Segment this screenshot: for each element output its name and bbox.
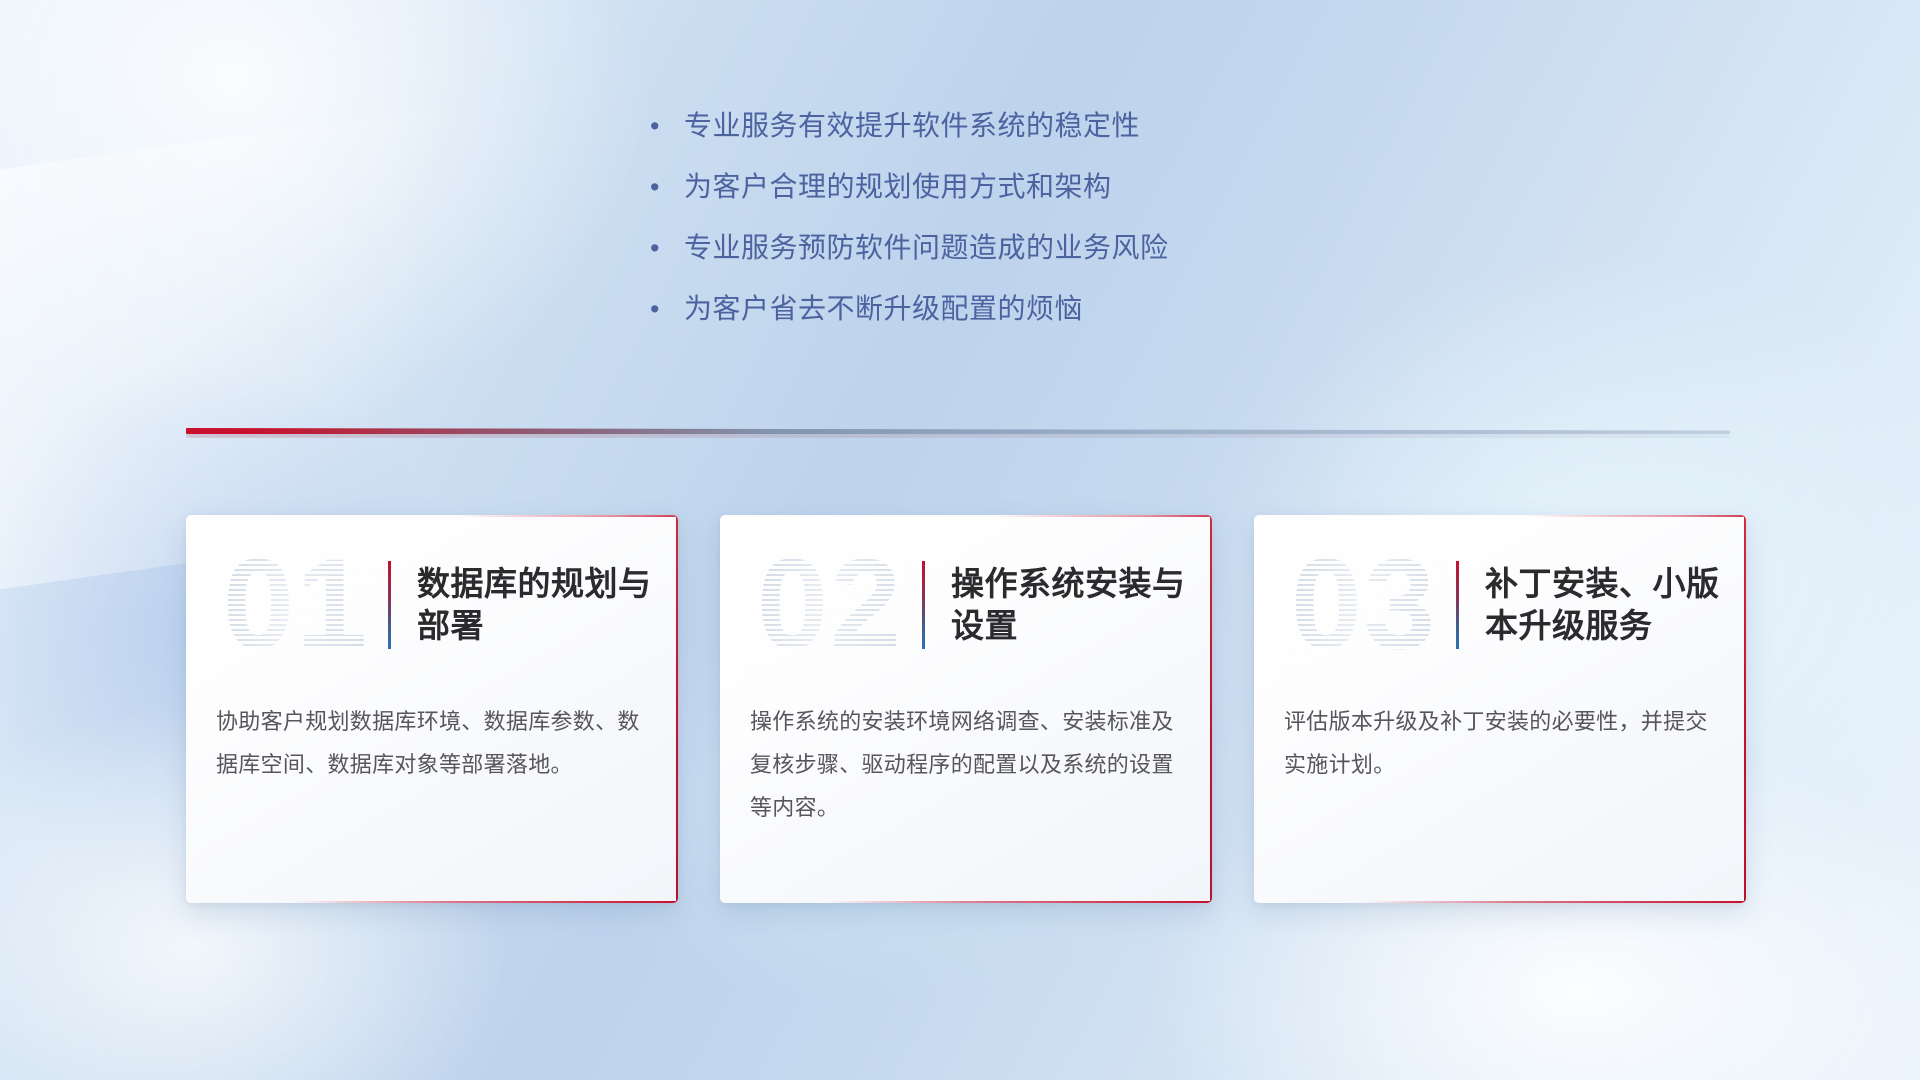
list-item: • 专业服务有效提升软件系统的稳定性 bbox=[650, 108, 1410, 143]
section-divider bbox=[186, 428, 1730, 440]
bullet-text: 专业服务预防软件问题造成的业务风险 bbox=[684, 230, 1169, 265]
card-title-divider bbox=[922, 561, 925, 649]
card-title: 数据库的规划与部署 bbox=[417, 563, 652, 647]
card-bottom-accent bbox=[294, 901, 678, 903]
card-title-divider bbox=[388, 561, 391, 649]
card-title: 补丁安装、小版本升级服务 bbox=[1485, 563, 1720, 647]
list-item: • 为客户合理的规划使用方式和架构 bbox=[650, 169, 1410, 204]
bullet-text: 为客户省去不断升级配置的烦恼 bbox=[684, 291, 1083, 326]
service-card[interactable]: 02 操作系统安装与设置 操作系统的安装环境网络调查、安装标准及复核步骤、驱动程… bbox=[720, 515, 1212, 903]
card-body-text: 评估版本升级及补丁安装的必要性，并提交实施计划。 bbox=[1254, 695, 1746, 787]
card-header: 02 操作系统安装与设置 bbox=[720, 515, 1212, 695]
benefit-bullet-list: • 专业服务有效提升软件系统的稳定性 • 为客户合理的规划使用方式和架构 • 专… bbox=[650, 108, 1410, 352]
divider-bar bbox=[186, 428, 1730, 434]
slide-canvas: • 专业服务有效提升软件系统的稳定性 • 为客户合理的规划使用方式和架构 • 专… bbox=[0, 0, 1920, 1080]
bullet-text: 专业服务有效提升软件系统的稳定性 bbox=[684, 108, 1140, 143]
bullet-dot-icon: • bbox=[650, 235, 684, 262]
card-body-text: 协助客户规划数据库环境、数据库参数、数据库空间、数据库对象等部署落地。 bbox=[186, 695, 678, 787]
card-title-divider bbox=[1456, 561, 1459, 649]
service-card[interactable]: 01 数据库的规划与部署 协助客户规划数据库环境、数据库参数、数据库空间、数据库… bbox=[186, 515, 678, 903]
background-light-streak bbox=[0, 71, 700, 589]
card-header: 03 补丁安装、小版本升级服务 bbox=[1254, 515, 1746, 695]
list-item: • 专业服务预防软件问题造成的业务风险 bbox=[650, 230, 1410, 265]
list-item: • 为客户省去不断升级配置的烦恼 bbox=[650, 291, 1410, 326]
card-number-watermark: 02 bbox=[742, 539, 918, 671]
card-number-watermark: 03 bbox=[1276, 539, 1452, 671]
bullet-text: 为客户合理的规划使用方式和架构 bbox=[684, 169, 1112, 204]
bullet-dot-icon: • bbox=[650, 174, 684, 201]
bullet-dot-icon: • bbox=[650, 296, 684, 323]
card-body-text: 操作系统的安装环境网络调查、安装标准及复核步骤、驱动程序的配置以及系统的设置等内… bbox=[720, 695, 1212, 830]
bullet-dot-icon: • bbox=[650, 113, 684, 140]
card-header: 01 数据库的规划与部署 bbox=[186, 515, 678, 695]
card-number-watermark: 01 bbox=[208, 539, 384, 671]
service-card-group: 01 数据库的规划与部署 协助客户规划数据库环境、数据库参数、数据库空间、数据库… bbox=[186, 515, 1746, 903]
card-bottom-accent bbox=[1362, 901, 1746, 903]
service-card[interactable]: 03 补丁安装、小版本升级服务 评估版本升级及补丁安装的必要性，并提交实施计划。 bbox=[1254, 515, 1746, 903]
card-title: 操作系统安装与设置 bbox=[951, 563, 1186, 647]
card-bottom-accent bbox=[828, 901, 1212, 903]
